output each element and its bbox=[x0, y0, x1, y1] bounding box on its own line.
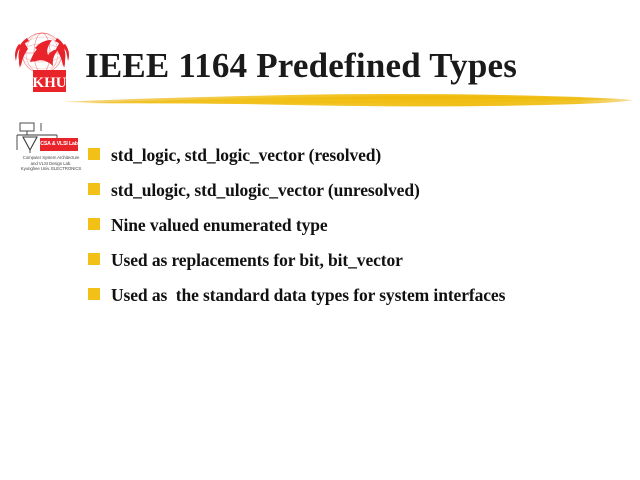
square-bullet-icon bbox=[88, 148, 100, 160]
list-item: Used as the standard data types for syst… bbox=[88, 280, 608, 340]
square-bullet-icon bbox=[88, 253, 100, 265]
list-item: Nine valued enumerated type bbox=[88, 210, 608, 245]
bullet-list: std_logic, std_logic_vector (resolved) s… bbox=[88, 140, 608, 340]
title-underline-swoosh bbox=[60, 86, 635, 112]
list-item: std_logic, std_logic_vector (resolved) bbox=[88, 140, 608, 175]
lab-caption: Computer System Architecture and VLSI De… bbox=[13, 155, 89, 172]
lab-badge: CSA & VLSI Lab bbox=[40, 138, 78, 151]
lab-caption-line-3: Kyunghee Univ. ELECTRONICS bbox=[13, 166, 89, 172]
square-bullet-icon bbox=[88, 183, 100, 195]
list-item-label: Used as the standard data types for syst… bbox=[111, 280, 511, 310]
square-bullet-icon bbox=[88, 288, 100, 300]
list-item-label: Used as replacements for bit, bit_vector bbox=[111, 245, 608, 275]
lab-logo: CSA & VLSI Lab Computer System Architect… bbox=[13, 120, 89, 178]
square-bullet-icon bbox=[88, 218, 100, 230]
list-item: std_ulogic, std_ulogic_vector (unresolve… bbox=[88, 175, 608, 210]
slide-canvas: KHU IEEE 1164 Predefined Types bbox=[0, 0, 640, 480]
brush-stroke-icon bbox=[60, 86, 635, 112]
lab-caption-line-1: Computer System Architecture bbox=[13, 155, 89, 161]
list-item-label: std_ulogic, std_ulogic_vector (unresolve… bbox=[111, 175, 608, 205]
list-item: Used as replacements for bit, bit_vector bbox=[88, 245, 608, 280]
list-item-label: Nine valued enumerated type bbox=[111, 210, 608, 240]
list-item-label: std_logic, std_logic_vector (resolved) bbox=[111, 140, 608, 170]
page-title: IEEE 1164 Predefined Types bbox=[85, 46, 605, 86]
